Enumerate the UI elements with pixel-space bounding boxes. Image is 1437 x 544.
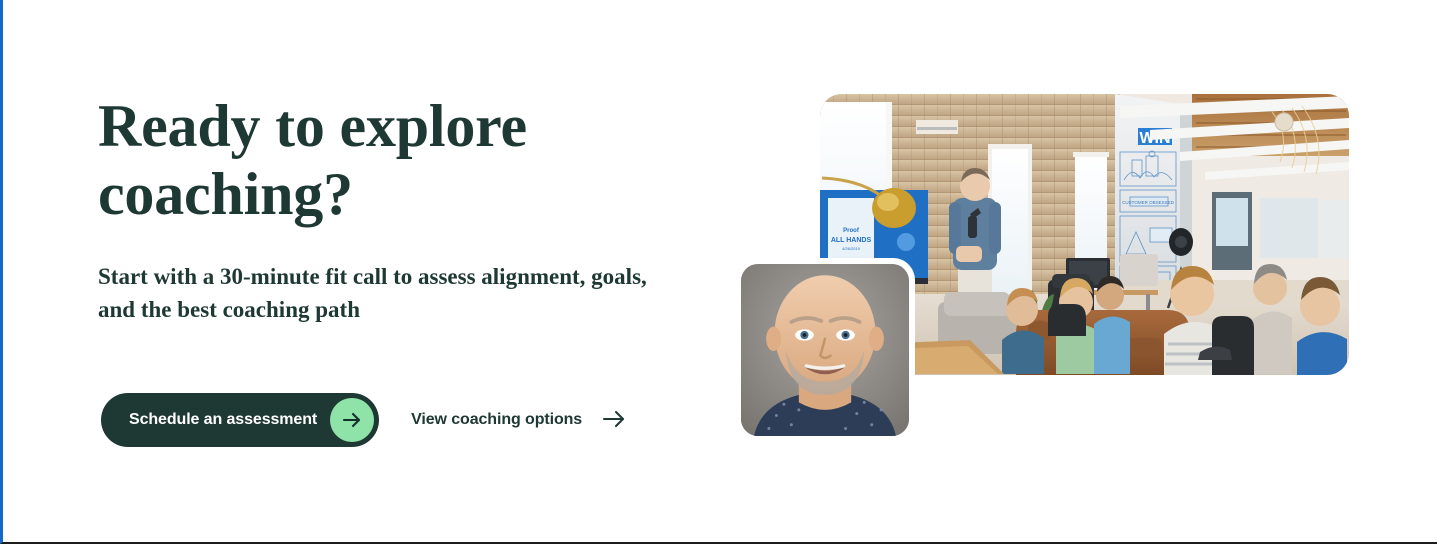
- svg-text:CUSTOMER OBSESSED: CUSTOMER OBSESSED: [1122, 200, 1174, 205]
- hero-copy-column: Ready to explore coaching? Start with a …: [98, 92, 718, 326]
- coach-portrait-card: [735, 258, 915, 442]
- view-coaching-options-label: View coaching options: [411, 411, 582, 429]
- avatar: [741, 264, 909, 436]
- arrow-right-icon: [330, 398, 374, 442]
- arrow-right-icon: [600, 407, 628, 434]
- schedule-assessment-button[interactable]: Schedule an assessment: [101, 393, 379, 447]
- hero-media: WIN CUSTOMER OBSESSED: [820, 94, 1349, 375]
- hero-section: Ready to explore coaching? Start with a …: [0, 0, 1437, 544]
- svg-text:Proof: Proof: [843, 228, 860, 234]
- page-title: Ready to explore coaching?: [98, 92, 718, 228]
- view-coaching-options-button[interactable]: View coaching options: [411, 407, 628, 434]
- hero-subcopy: Start with a 30-minute fit call to asses…: [98, 260, 658, 326]
- svg-text:4/26/2019: 4/26/2019: [842, 246, 861, 251]
- schedule-assessment-label: Schedule an assessment: [129, 411, 317, 429]
- svg-text:ALL HANDS: ALL HANDS: [831, 237, 872, 244]
- cta-row: Schedule an assessment View coaching opt…: [101, 393, 628, 447]
